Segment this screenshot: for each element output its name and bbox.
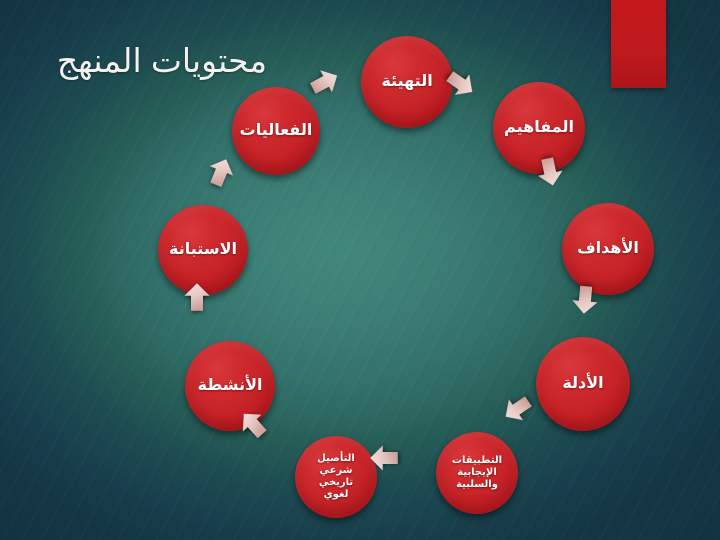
accent-bar xyxy=(611,0,666,88)
flow-arrow-icon-4 xyxy=(569,284,602,317)
cycle-node-9[interactable]: الفعاليات xyxy=(232,87,320,175)
cycle-node-6[interactable]: التأصيل شرعي تاريخي لغوي xyxy=(295,436,377,518)
cycle-node-label: التطبيقات الإيجابية والسلبية xyxy=(448,455,506,490)
flow-arrow-icon-3 xyxy=(532,154,568,190)
cycle-node-label: المفاهيم xyxy=(500,119,578,137)
flow-arrow-icon-5 xyxy=(496,388,538,430)
presentation-slide: محتويات المنهج التهيئةالمفاهيمالأهدافالأ… xyxy=(0,0,720,540)
cycle-node-label: الأدلة xyxy=(558,375,607,393)
flow-arrow-icon-6 xyxy=(369,443,399,473)
cycle-node-label: التأصيل شرعي تاريخي لغوي xyxy=(313,453,359,500)
cycle-node-label: الأهداف xyxy=(573,240,643,258)
flow-arrow-icon-1 xyxy=(305,62,346,103)
page-title: محتويات المنهج xyxy=(40,42,284,80)
cycle-node-label: الاستبانة xyxy=(165,241,241,259)
cycle-node-4[interactable]: الأدلة xyxy=(536,337,630,431)
cycle-node-5[interactable]: التطبيقات الإيجابية والسلبية xyxy=(436,432,518,514)
cycle-node-1[interactable]: التهيئة xyxy=(361,36,453,128)
cycle-node-label: التهيئة xyxy=(377,73,436,91)
flow-arrow-icon-9 xyxy=(201,152,240,191)
cycle-node-3[interactable]: الأهداف xyxy=(562,203,654,295)
cycle-node-label: الأنشطة xyxy=(194,377,267,395)
cycle-node-label: الفعاليات xyxy=(236,122,317,140)
flow-arrow-icon-8 xyxy=(182,282,212,312)
